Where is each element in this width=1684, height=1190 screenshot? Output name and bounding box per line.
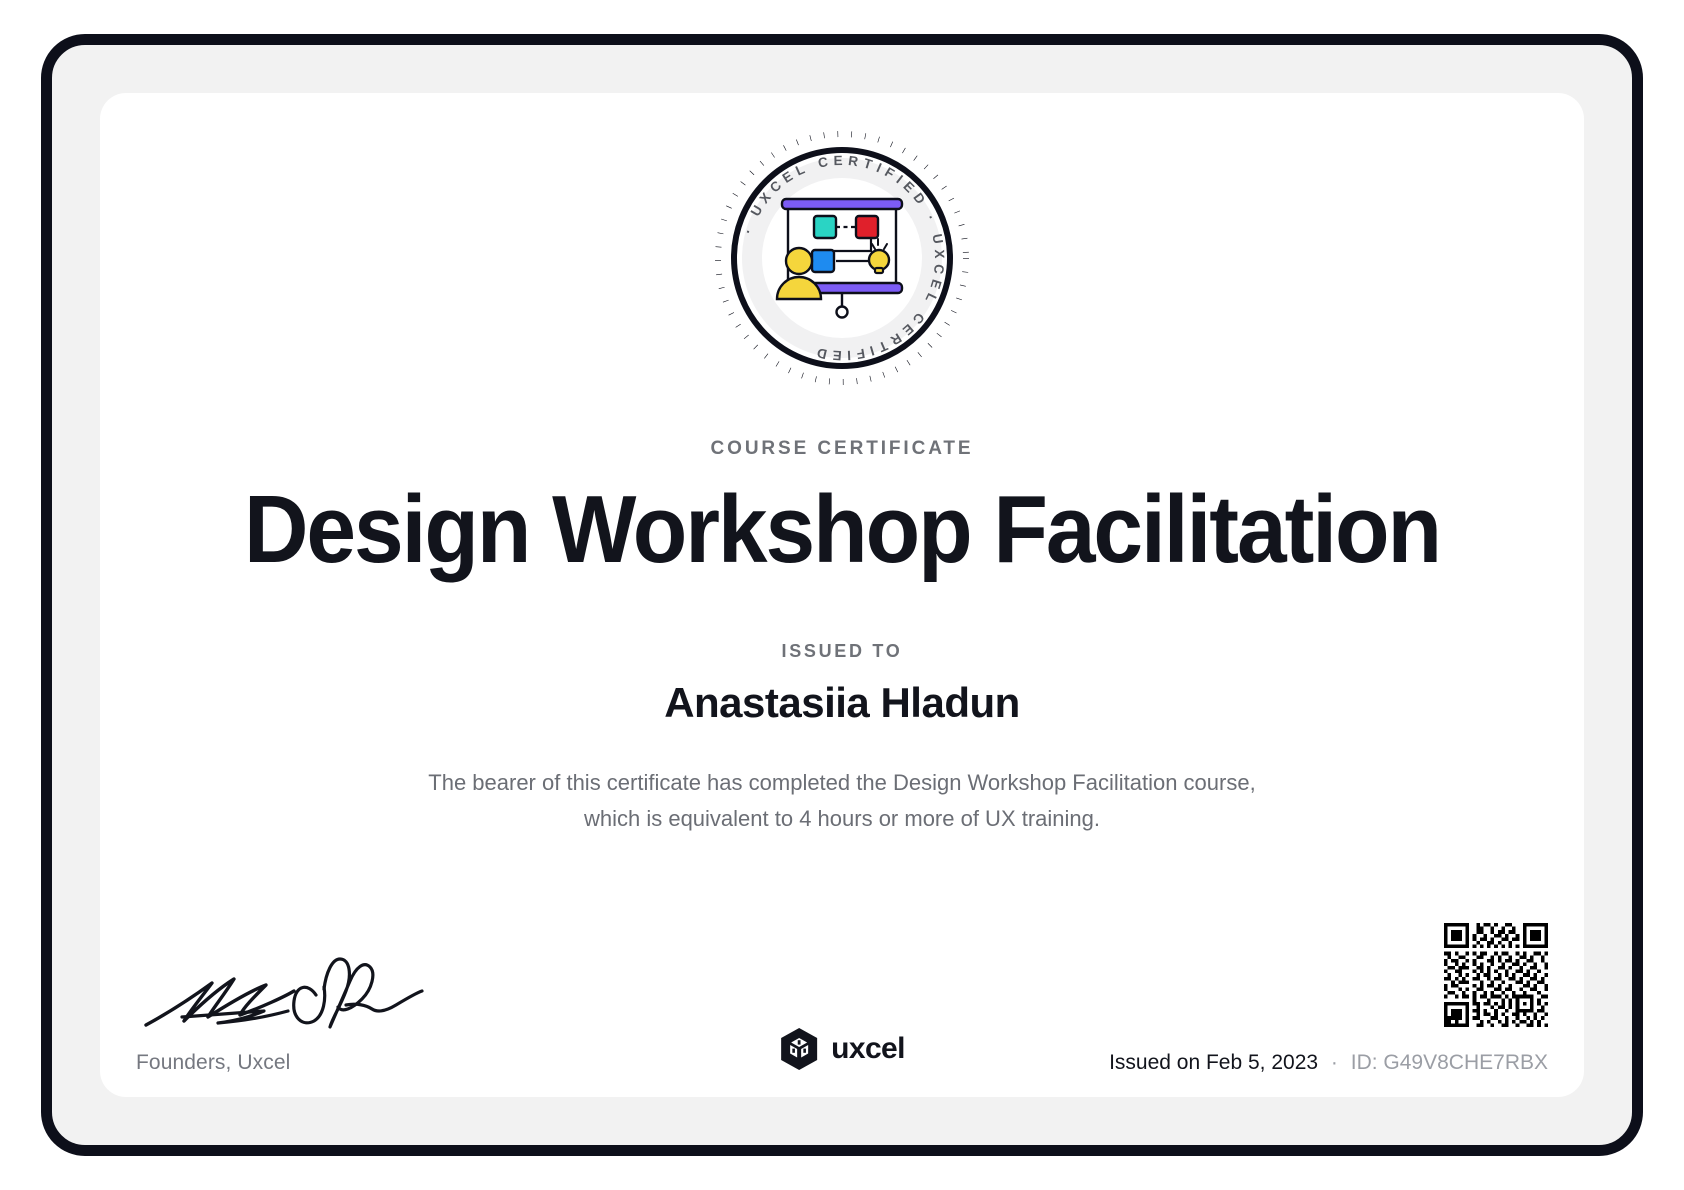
course-certificate-kicker: COURSE CERTIFICATE [100,438,1584,460]
certificate-frame: · UXCEL CERTIFIED · UXCEL CERTIFIED [41,34,1643,1156]
uxcel-hexagon-icon [779,1027,819,1071]
brand-wordmark: uxcel [831,1032,905,1066]
brand-logo: uxcel [779,1027,905,1071]
recipient-name: Anastasiia Hladun [100,679,1584,727]
issued-to-label: ISSUED TO [100,641,1584,662]
signature-icon [138,955,428,1037]
certificate-meta: Issued on Feb 5, 2023 · ID: G49V8CHE7RBX [928,923,1548,1075]
qr-code[interactable] [928,923,1548,1027]
page-title: Design Workshop Facilitation [152,478,1532,582]
qr-code-icon[interactable] [1444,923,1548,1027]
badge-seal-icon: · UXCEL CERTIFIED · UXCEL CERTIFIED [707,123,977,393]
signature-block: Founders, Uxcel [136,955,476,1075]
signature-label: Founders, Uxcel [136,1051,476,1075]
certification-badge: · UXCEL CERTIFIED · UXCEL CERTIFIED [707,123,977,393]
meta-separator: · [1331,1051,1338,1074]
issue-meta-line: Issued on Feb 5, 2023 · ID: G49V8CHE7RBX [928,1051,1548,1075]
certificate-footer: Founders, Uxcel uxcel [100,885,1584,1075]
issued-on-date: Issued on Feb 5, 2023 [1109,1051,1318,1074]
certificate-card: · UXCEL CERTIFIED · UXCEL CERTIFIED [100,93,1584,1097]
certificate-description: The bearer of this certificate has compl… [422,765,1262,836]
certificate-id: ID: G49V8CHE7RBX [1351,1051,1548,1074]
